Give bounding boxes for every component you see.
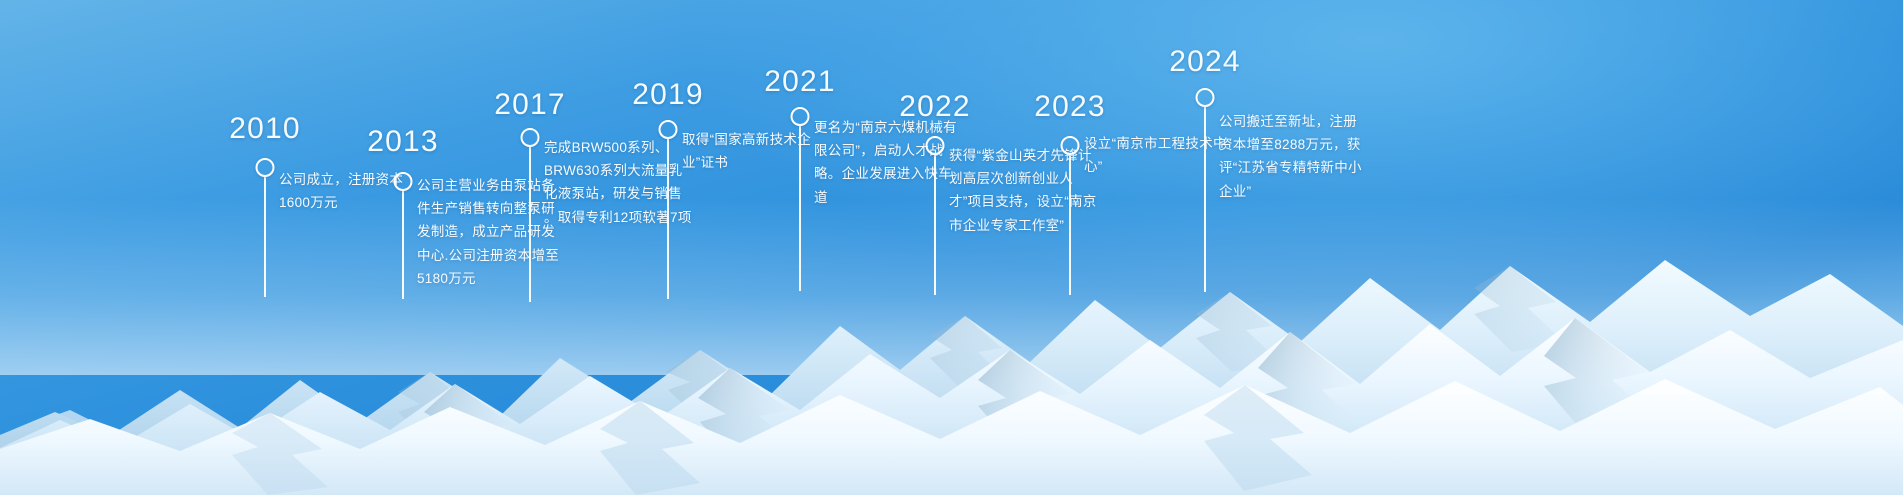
timeline-description: 公司搬迁至新址，注册资本增至8288万元，获评“江苏省专精特新中小企业” <box>1219 110 1369 203</box>
timeline-stem <box>402 191 404 299</box>
timeline-dot-icon[interactable] <box>521 128 540 147</box>
timeline-year-label: 2019 <box>632 78 704 112</box>
timeline-description: 完成BRW500系列、BRW630系列大流量乳化液泵站，研发与销售 。取得专利1… <box>544 136 694 229</box>
timeline-stem <box>264 177 266 297</box>
timeline-dot-icon[interactable] <box>659 120 678 139</box>
timeline-dot-icon[interactable] <box>1196 88 1215 107</box>
timeline-stem <box>799 126 801 291</box>
timeline-infographic: 2010 公司成立，注册资本1600万元 2013 公司主营业务由泵站备件生产销… <box>0 0 1903 495</box>
timeline-year-label: 2021 <box>764 65 836 99</box>
timeline-description: 设立“南京市工程技术中心” <box>1084 132 1232 178</box>
timeline-year-label: 2010 <box>229 112 301 146</box>
timeline-stem <box>529 147 531 302</box>
timeline-dot-icon[interactable] <box>394 172 413 191</box>
timeline-description: 更名为“南京六煤机械有限公司”，启动人才战略。企业发展进入快车道 <box>814 116 962 209</box>
timeline-year-label: 2017 <box>494 88 566 122</box>
timeline-year-label: 2024 <box>1169 45 1241 79</box>
timeline-dot-icon[interactable] <box>791 107 810 126</box>
timeline-dot-icon[interactable] <box>926 136 945 155</box>
timeline-stem <box>1069 155 1071 295</box>
timeline-year-label: 2023 <box>1034 90 1106 124</box>
timeline-description: 获得“紫金山英才先锋计划高层次创新创业人才”项目支持，设立“南京市企业专家工作室… <box>949 144 1099 237</box>
timeline-stem <box>934 155 936 295</box>
timeline-dot-icon[interactable] <box>256 158 275 177</box>
timeline-dot-icon[interactable] <box>1061 136 1080 155</box>
timeline-stem <box>1204 107 1206 292</box>
timeline-track: 2010 公司成立，注册资本1600万元 2013 公司主营业务由泵站备件生产销… <box>0 0 1903 495</box>
timeline-year-label: 2013 <box>367 125 439 159</box>
timeline-description: 取得“国家高新技术企业”证书 <box>682 128 827 174</box>
timeline-stem <box>667 139 669 299</box>
timeline-year-label: 2022 <box>899 90 971 124</box>
